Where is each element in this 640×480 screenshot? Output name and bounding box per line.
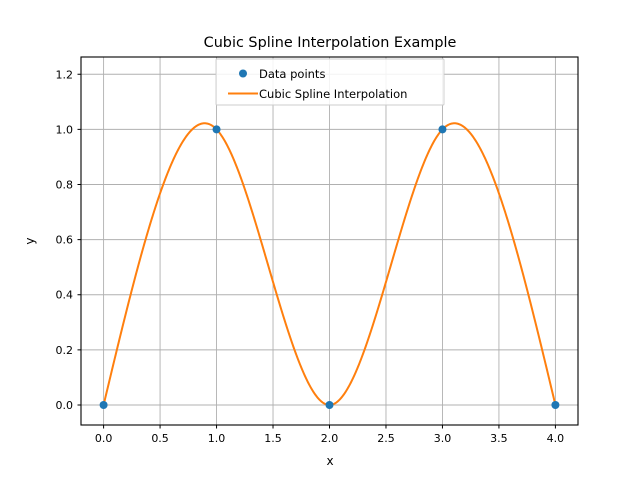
data-point-marker: [551, 401, 559, 409]
legend-marker-data-points: [239, 70, 247, 78]
y-tick-label: 0.2: [56, 344, 74, 357]
chart-legend: Data points Cubic Spline Interpolation: [216, 59, 444, 105]
legend-label-data-points: Data points: [259, 67, 325, 81]
x-tick-label: 0.0: [95, 432, 113, 445]
x-tick-label: 2.0: [321, 432, 339, 445]
y-tick-label: 1.2: [56, 68, 74, 81]
y-tick-label: 0.4: [56, 289, 74, 302]
data-point-marker: [326, 401, 334, 409]
x-tick-label: 0.5: [151, 432, 169, 445]
cubic-spline-chart: Cubic Spline Interpolation Example 0.00.…: [0, 0, 640, 480]
data-point-marker: [213, 125, 221, 133]
x-axis-label: x: [326, 454, 333, 468]
x-tick-label: 4.0: [547, 432, 565, 445]
data-point-marker: [100, 401, 108, 409]
x-tick-label: 1.5: [264, 432, 282, 445]
chart-title: Cubic Spline Interpolation Example: [204, 35, 457, 51]
x-tick-label: 3.0: [434, 432, 452, 445]
legend-label-spline: Cubic Spline Interpolation: [259, 87, 407, 101]
y-tick-label: 1.0: [56, 123, 74, 136]
y-tick-label: 0.0: [56, 399, 74, 412]
x-tick-labels: 0.00.51.01.52.02.53.03.54.0: [95, 432, 564, 445]
y-axis-label: y: [23, 237, 37, 244]
y-tick-label: 0.8: [56, 178, 74, 191]
data-point-marker: [438, 125, 446, 133]
figure-canvas: Cubic Spline Interpolation Example 0.00.…: [0, 0, 640, 480]
x-tick-label: 2.5: [377, 432, 395, 445]
y-tick-label: 0.6: [56, 234, 74, 247]
x-tick-label: 1.0: [208, 432, 226, 445]
x-tick-label: 3.5: [490, 432, 508, 445]
